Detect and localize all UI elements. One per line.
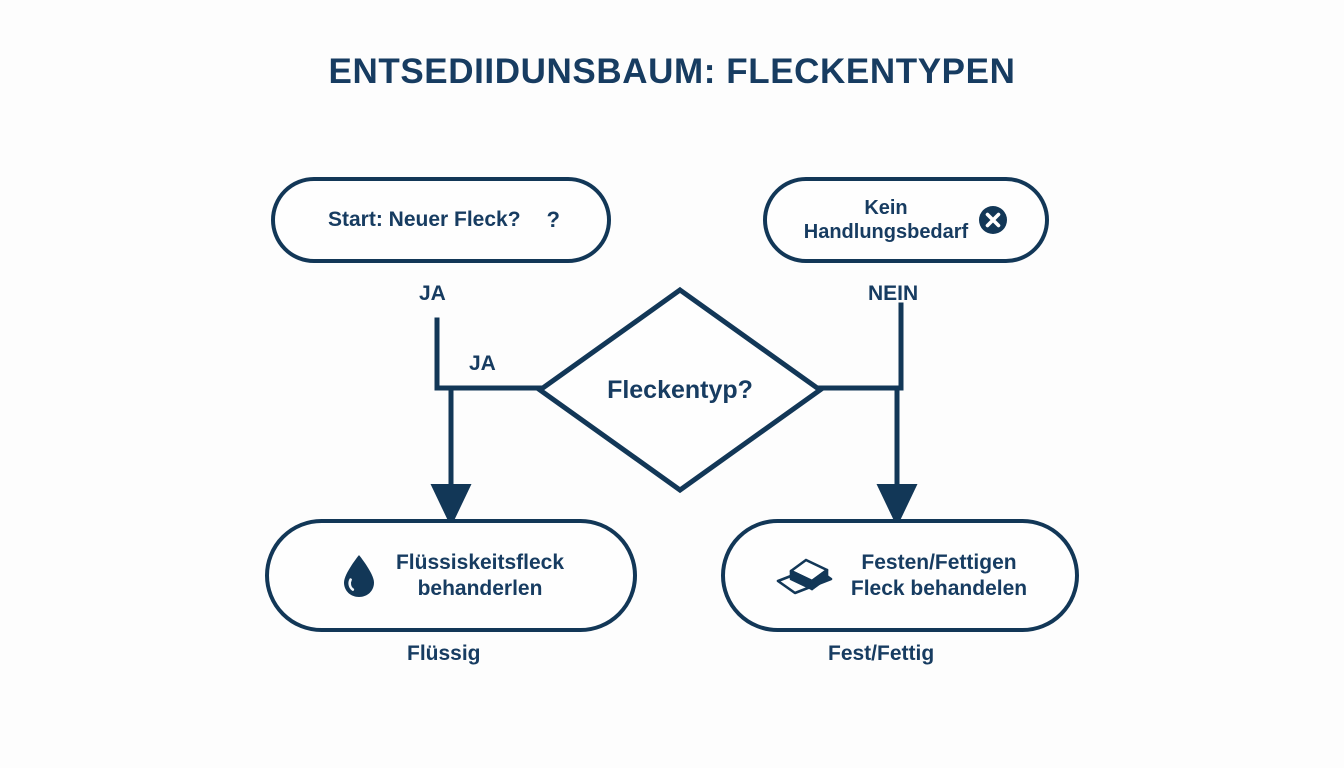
node-decision-label: Fleckentyp? [538, 288, 822, 492]
node-start[interactable]: Start: Neuer Fleck? ? [271, 177, 611, 263]
circle-x-icon [978, 205, 1008, 235]
node-start-label: Start: Neuer Fleck? [328, 207, 521, 233]
edge-label-ja-top: JA [419, 282, 446, 306]
edge-label-ja-mid: JA [469, 352, 496, 376]
edge-label-nein: NEIN [868, 282, 918, 306]
node-liquid-stain[interactable]: Flüssiskeitsfleck behanderlen [265, 519, 637, 632]
node-no-action[interactable]: Kein Handlungsbedarf [763, 177, 1049, 263]
node-solid-stain-label: Festen/Fettigen Fleck behandelen [851, 550, 1027, 601]
flowchart-canvas: ENTSEDIIDUNSBAUM: FLECKENTYPEN Start: Ne… [0, 0, 1344, 768]
edge-label-fluessig: Flüssig [407, 642, 481, 666]
water-droplet-icon [340, 552, 378, 600]
question-mark-icon: ? [547, 207, 560, 234]
node-no-action-label: Kein Handlungsbedarf [804, 196, 968, 245]
butter-stick-icon [775, 553, 835, 599]
node-decision[interactable]: Fleckentyp? [538, 288, 822, 492]
node-liquid-stain-label: Flüssiskeitsfleck behanderlen [396, 550, 564, 601]
edge-label-fest-fettig: Fest/Fettig [828, 642, 934, 666]
edge-noaction-to-decision [820, 305, 901, 388]
node-solid-stain[interactable]: Festen/Fettigen Fleck behandelen [721, 519, 1079, 632]
diagram-title: ENTSEDIIDUNSBAUM: FLECKENTYPEN [0, 52, 1344, 92]
